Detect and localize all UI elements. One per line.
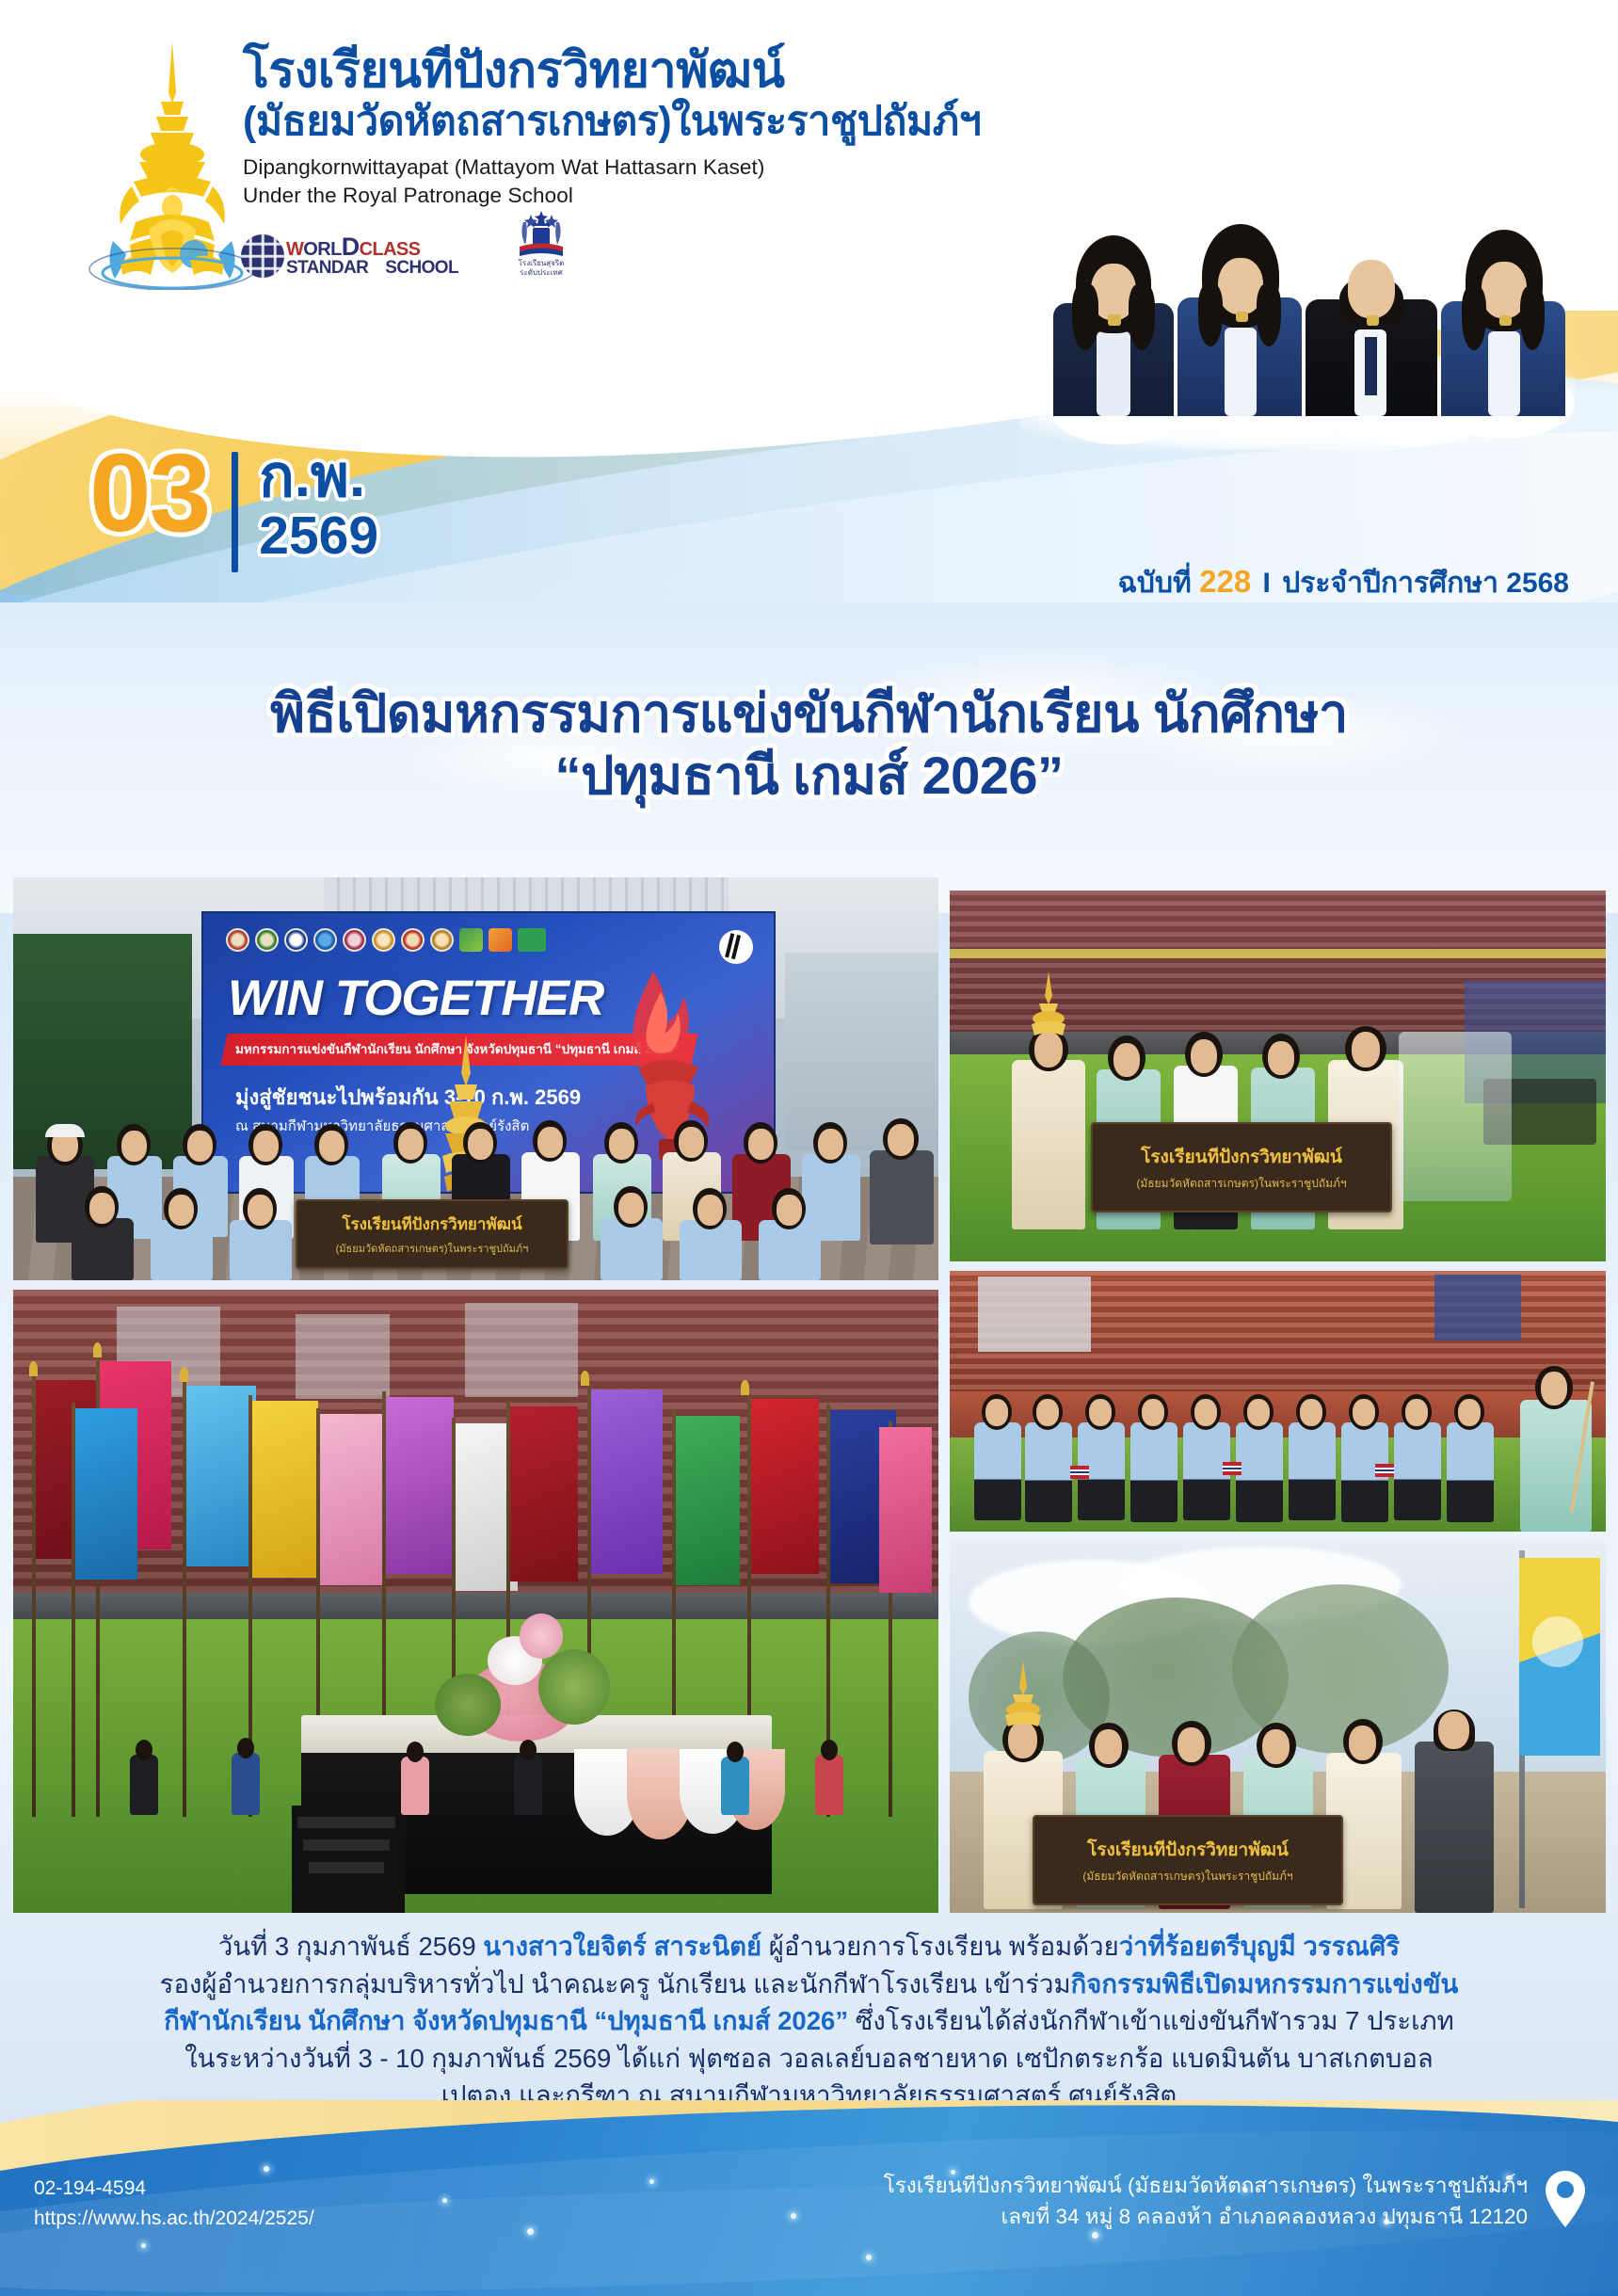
academic-year: ประจำปีการศึกษา 2568	[1282, 568, 1569, 599]
date-day: 03	[89, 442, 209, 545]
administrator-portrait	[1048, 200, 1179, 416]
body-line-4: ในระหว่างวันที่ 3 - 10 กุมภาพันธ์ 2569 ไ…	[26, 2040, 1592, 2078]
plaque-line2: (มัธยมวัดหัตถสารเกษตร)ในพระราชูปถัมภ์ฯ	[336, 1240, 529, 1257]
wcs-orld: ORL	[303, 239, 341, 260]
date-block: 03 ก.พ. 2569	[89, 442, 378, 572]
issue-number: 228	[1199, 564, 1251, 599]
globe-icon	[241, 234, 284, 278]
sponsor-logo-icon	[459, 928, 483, 952]
wcs-class: CLASS	[360, 239, 421, 260]
crest-icon	[510, 209, 572, 258]
plaque-line2: (มัธยมวัดหัตถสารเกษตร)ในพระราชูปถัมภ์ฯ	[1082, 1868, 1292, 1886]
administrators-photo-group	[1019, 168, 1575, 450]
school-name-english-line1: Dipangkornwittayapat (Mattayom Wat Hatta…	[243, 153, 1024, 182]
newsletter-page: โรงเรียนทีปังกรวิทยาพัฒน์ (มัธยมวัดหัตถส…	[0, 0, 1618, 2296]
photo-flag-ceremony	[13, 1290, 938, 1913]
headline-line1: พิธีเปิดมหกรรมการแข่งขันกีฬานักเรียน นัก…	[0, 683, 1618, 744]
body-line1-b: ผู้อำนวยการโรงเรียน พร้อมด้วย	[761, 1932, 1119, 1961]
school-name-plaque: โรงเรียนทีปังกรวิทยาพัฒน์ (มัธยมวัดหัตถส…	[1091, 1122, 1392, 1212]
plaque-line2: (มัธยมวัดหัตถสารเกษตร)ในพระราชูปถัมภ์ฯ	[1136, 1175, 1346, 1193]
body-line-1: วันที่ 3 กุมภาพันธ์ 2569 นางสาวใยจิตร์ ส…	[26, 1928, 1592, 1966]
banner-title: WIN TOGETHER	[228, 970, 603, 1027]
headline-line2: “ปทุมธานี เกมส์ 2026”	[0, 746, 1618, 807]
wcs-school: SCHOOL	[385, 258, 458, 278]
sponsor-logo-icon	[430, 928, 454, 952]
school-name-plaque: โรงเรียนทีปังกรวิทยาพัฒน์ (มัธยมวัดหัตถส…	[296, 1199, 569, 1269]
administrator-portrait	[1302, 190, 1441, 416]
school-name-english-line2: Under the Royal Patronage School	[243, 182, 1024, 210]
body-line3-b: ซึ่งโรงเรียนได้ส่งนักกีฬาเข้าแข่งขันกีฬา…	[848, 2006, 1454, 2035]
school-name-plaque: โรงเรียนทีปังกรวิทยาพัฒน์ (มัธยมวัดหัตถส…	[1033, 1815, 1343, 1905]
marching-students	[950, 1357, 1606, 1532]
article-body: วันที่ 3 กุมภาพันธ์ 2569 นางสาวใยจิตร์ ส…	[26, 1928, 1592, 2114]
sparkle	[866, 2255, 872, 2260]
body-line-3: กีฬานักเรียน นักศึกษา จังหวัดปทุมธานี “ป…	[26, 2002, 1592, 2040]
footer-website[interactable]: https://www.hs.ac.th/2024/2525/	[34, 2204, 314, 2234]
footer-phone: 02-194-4594	[34, 2174, 314, 2204]
body-deputy-name: ว่าที่ร้อยตรีบุญมี วรรณศิริ	[1119, 1932, 1400, 1961]
sponsor-logo-icon	[372, 928, 395, 952]
footer-address: โรงเรียนทีปังกรวิทยาพัฒน์ (มัธยมวัดหัตถส…	[884, 2170, 1528, 2233]
sponsor-logo-icon	[343, 928, 366, 952]
date-divider	[232, 452, 238, 572]
sparkle	[141, 2243, 146, 2248]
sponsor-logos	[226, 928, 546, 952]
issue-line: ฉบับที่ 228 I ประจำปีการศึกษา 2568	[1118, 561, 1570, 605]
school-title-block: โรงเรียนทีปังกรวิทยาพัฒน์ (มัธยมวัดหัตถส…	[243, 45, 1024, 211]
page-footer: 02-194-4594 https://www.hs.ac.th/2024/25…	[0, 2100, 1618, 2296]
wcs-standard: STANDAR	[286, 258, 368, 278]
wcs-d: D	[342, 233, 360, 261]
sudjarit-label: โรงเรียนสุจริต ระดับประเทศ	[492, 259, 590, 278]
issue-separator: I	[1263, 568, 1271, 599]
issue-label: ฉบับที่	[1118, 568, 1192, 599]
sponsor-logo-icon	[401, 928, 425, 952]
body-director-name: นางสาวใยจิตร์ สาระนิตย์	[483, 1932, 761, 1961]
parade-figure	[1006, 994, 1091, 1229]
administrator-portrait	[1174, 186, 1306, 416]
photo-parade-plaque: โรงเรียนทีปังกรวิทยาพัฒน์ (มัธยมวัดหัตถส…	[950, 891, 1606, 1261]
sparkle	[1092, 2232, 1098, 2239]
headline-block: พิธีเปิดมหกรรมการแข่งขันกีฬานักเรียน นัก…	[0, 683, 1618, 807]
sparkle	[442, 2198, 447, 2203]
body-event-highlight-1: กิจกรรมพิธีเปิดมหกรรมการแข่งขัน	[1071, 1969, 1459, 1999]
footer-address-line2: เลขที่ 34 หมู่ 8 คลองห้า อำเภอคลองหลวง ป…	[884, 2201, 1528, 2232]
body-line-2: รองผู้อำนวยการกลุ่มบริหารทั่วไป นำคณะครู…	[26, 1966, 1592, 2003]
date-year: 2569	[259, 508, 378, 565]
photo-collage: WIN TOGETHER มหกรรมการแข่งขันกีฬานักเรีย…	[13, 877, 1606, 1913]
sponsor-logo-icon	[489, 928, 512, 952]
sponsor-logo-icon	[226, 928, 249, 952]
sparkle	[649, 2179, 654, 2184]
group-figure	[1407, 1659, 1501, 1913]
thai-flag-icon	[1070, 1466, 1089, 1479]
page-header: โรงเรียนทีปังกรวิทยาพัฒน์ (มัธยมวัดหัตถส…	[0, 0, 1618, 442]
sparkle	[527, 2228, 534, 2235]
administrator-portrait	[1437, 194, 1569, 416]
footer-address-line1: โรงเรียนทีปังกรวิทยาพัฒน์ (มัธยมวัดหัตถส…	[884, 2170, 1528, 2201]
sparkle	[791, 2213, 796, 2219]
date-month: ก.พ.	[259, 448, 378, 506]
photo-marching-column	[950, 1271, 1606, 1532]
mourning-ribbon-icon	[719, 930, 753, 964]
sparkle	[264, 2166, 269, 2172]
body-line1-a: วันที่ 3 กุมภาพันธ์ 2569	[218, 1932, 483, 1961]
plaque-line1: โรงเรียนทีปังกรวิทยาพัฒน์	[1087, 1836, 1289, 1864]
accreditation-badges: WORLDCLASS STANDARSCHOOL	[241, 209, 590, 278]
flag-crest-icon	[1532, 1616, 1583, 1667]
world-class-standard-school-badge: WORLDCLASS STANDARSCHOOL	[241, 234, 458, 278]
thai-flag-icon	[1223, 1462, 1242, 1475]
photo-outdoor-group-plaque: โรงเรียนทีปังกรวิทยาพัฒน์ (มัธยมวัดหัตถส…	[950, 1541, 1606, 1913]
wcs-w: W	[286, 239, 303, 260]
crowd-background	[117, 1725, 889, 1815]
sudjarit-school-badge: โรงเรียนสุจริต ระดับประเทศ	[492, 209, 590, 278]
location-pin-icon	[1545, 2170, 1586, 2228]
photo-group-with-banner: WIN TOGETHER มหกรรมการแข่งขันกีฬานักเรีย…	[13, 877, 938, 1280]
sponsor-logo-icon	[284, 928, 308, 952]
school-name-thai-line2: (มัธยมวัดหัตถสารเกษตร)ในพระราชูปถัมภ์ฯ	[243, 99, 1024, 144]
body-line2-a: รองผู้อำนวยการกลุ่มบริหารทั่วไป นำคณะครู…	[160, 1969, 1071, 1999]
thai-flag-icon	[1375, 1464, 1394, 1477]
plaque-line1: โรงเรียนทีปังกรวิทยาพัฒน์	[1141, 1143, 1342, 1171]
sponsor-logo-icon	[313, 928, 337, 952]
sponsor-logo-icon	[518, 928, 546, 952]
footer-contact: 02-194-4594 https://www.hs.ac.th/2024/25…	[34, 2174, 314, 2233]
body-event-highlight-2: กีฬานักเรียน นักศึกษา จังหวัดปทุมธานี “ป…	[164, 2006, 848, 2035]
sponsor-logo-icon	[255, 928, 279, 952]
school-name-thai-line1: โรงเรียนทีปังกรวิทยาพัฒน์	[243, 45, 1024, 97]
plaque-line1: โรงเรียนทีปังกรวิทยาพัฒน์	[342, 1212, 521, 1237]
